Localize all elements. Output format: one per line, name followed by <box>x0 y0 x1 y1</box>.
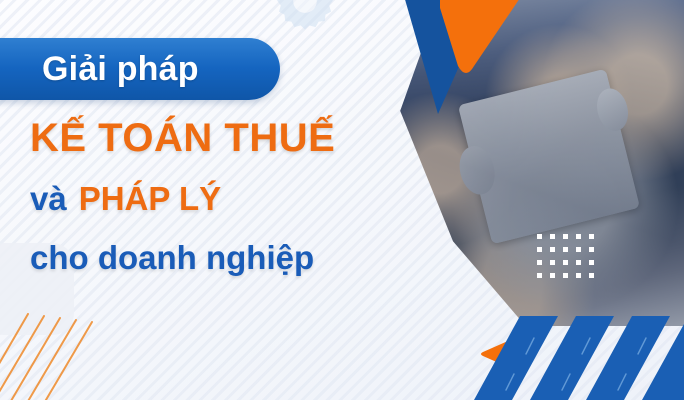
play-triangle-icon <box>434 0 530 80</box>
headline-line-2: vàPHÁP LÝ <box>30 182 450 215</box>
diagonal-stripes <box>434 316 684 400</box>
headline-line-2-prefix: và <box>30 180 67 217</box>
promotional-banner: Giải pháp KẾ TOÁN THUẾ vàPHÁP LÝ cho doa… <box>0 0 684 400</box>
headline-line-1: KẾ TOÁN THUẾ <box>30 118 450 158</box>
badge-solution: Giải pháp <box>0 38 280 100</box>
gear-icon <box>274 0 336 34</box>
headline-block: KẾ TOÁN THUẾ vàPHÁP LÝ cho doanh nghiệp <box>30 118 450 274</box>
headline-line-2-highlight: PHÁP LÝ <box>79 180 221 217</box>
headline-line-3: cho doanh nghiệp <box>30 241 450 274</box>
badge-label: Giải pháp <box>42 50 199 89</box>
hatch-lines <box>0 300 110 400</box>
